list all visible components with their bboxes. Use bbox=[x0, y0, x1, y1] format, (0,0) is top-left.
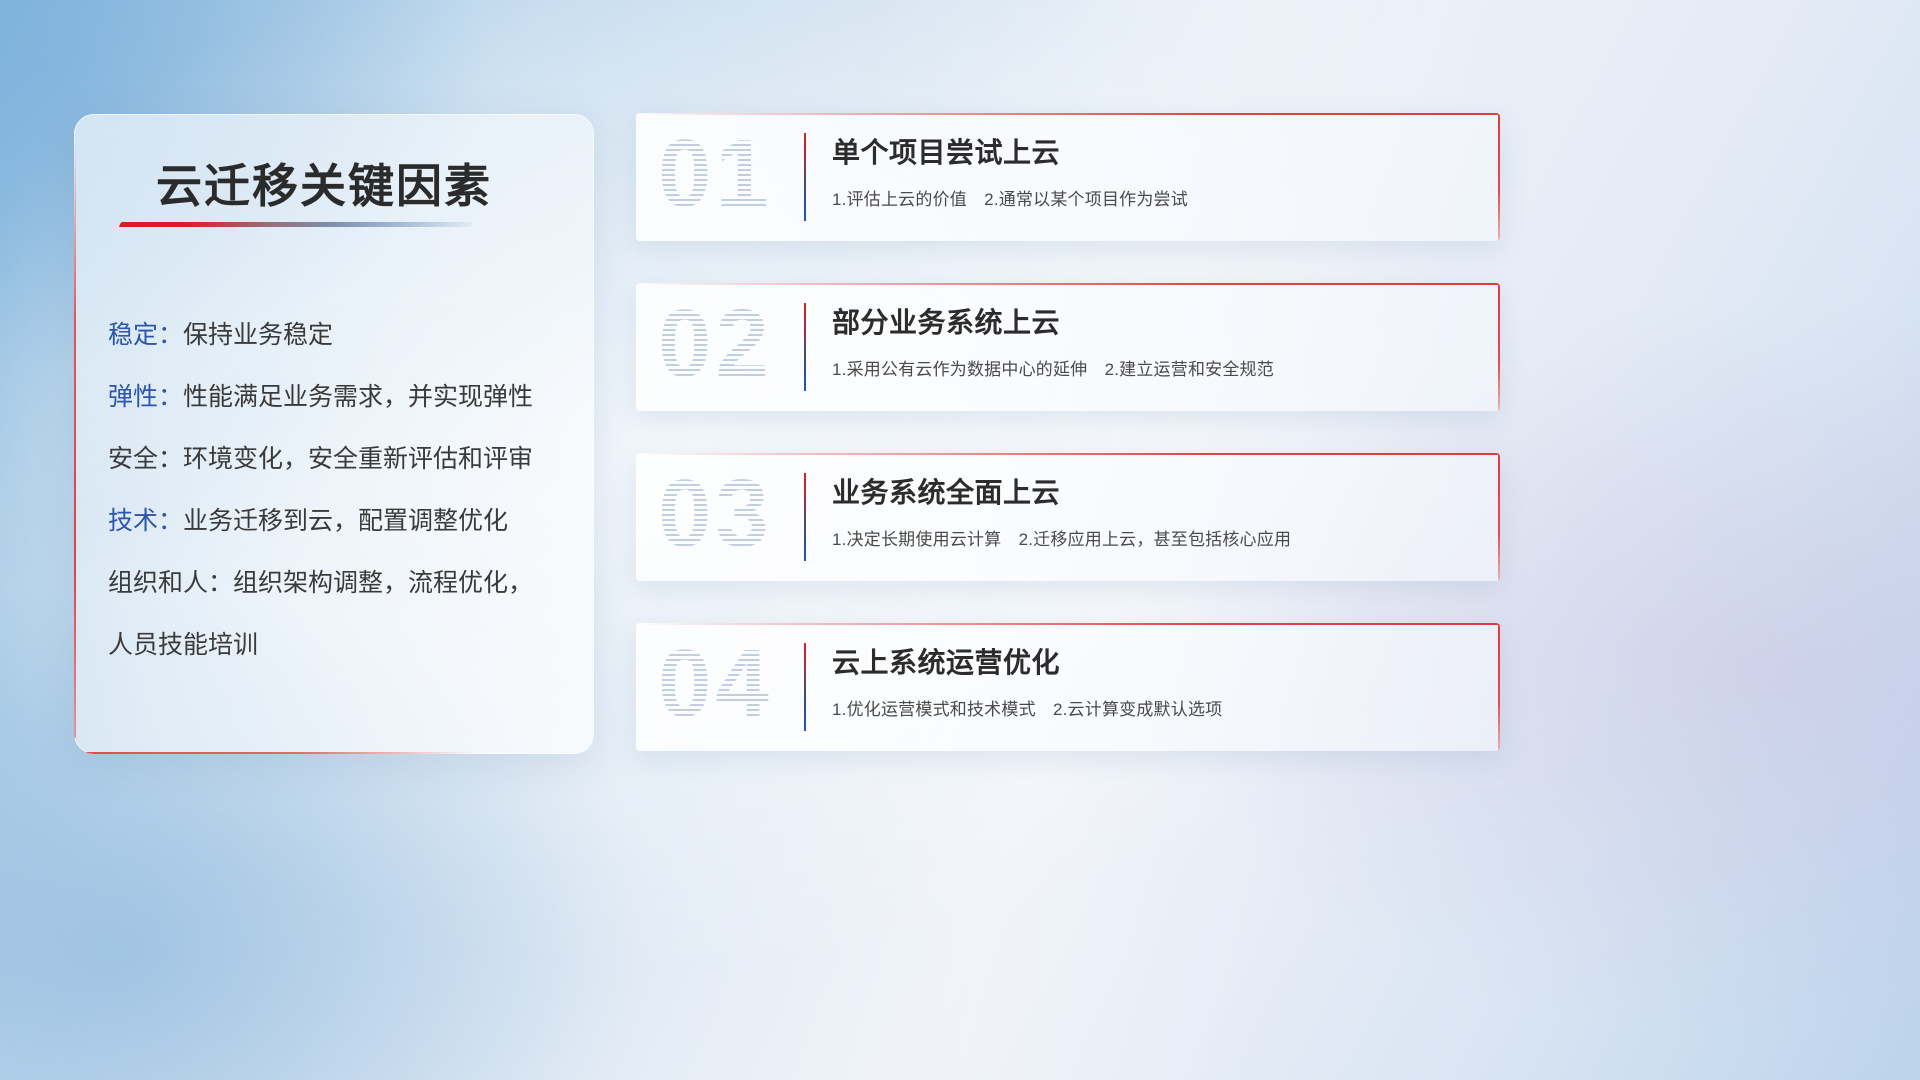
factor-label: 技术： bbox=[108, 507, 183, 535]
factor-item: 技术：业务迁移到云，配置调整优化 bbox=[108, 490, 576, 552]
step-divider-bar bbox=[804, 473, 806, 561]
step-body: 云上系统运营优化 1.优化运营模式和技术模式 2.云计算变成默认选项 bbox=[832, 641, 1476, 720]
step-card[interactable]: 01 单个项目尝试上云 1.评估上云的价值 2.通常以某个项目作为尝试 bbox=[636, 113, 1500, 241]
step-title: 部分业务系统上云 bbox=[832, 301, 1476, 341]
step-card[interactable]: 04 云上系统运营优化 1.优化运营模式和技术模式 2.云计算变成默认选项 bbox=[636, 623, 1500, 751]
step-title: 云上系统运营优化 bbox=[832, 641, 1476, 681]
step-divider-bar bbox=[804, 643, 806, 731]
factor-item: 稳定：保持业务稳定 bbox=[108, 304, 576, 366]
factor-text: 组织架构调整，流程优化， bbox=[233, 569, 533, 597]
panel-title: 云迁移关键因素 bbox=[156, 150, 492, 216]
factor-label: 安全： bbox=[108, 445, 183, 473]
step-number: 04 bbox=[658, 629, 773, 739]
factor-text: 保持业务稳定 bbox=[183, 321, 333, 349]
step-number: 01 bbox=[658, 119, 773, 229]
factor-item-continuation: 人员技能培训 bbox=[108, 614, 576, 676]
step-card[interactable]: 03 业务系统全面上云 1.决定长期使用云计算 2.迁移应用上云，甚至包括核心应… bbox=[636, 453, 1500, 581]
key-factors-panel: 云迁移关键因素 稳定：保持业务稳定 弹性：性能满足业务需求，并实现弹性 安全：环… bbox=[74, 114, 594, 754]
step-number: 03 bbox=[658, 459, 773, 569]
factor-label: 稳定： bbox=[108, 321, 183, 349]
factor-item: 组织和人：组织架构调整，流程优化， bbox=[108, 552, 576, 614]
step-body: 部分业务系统上云 1.采用公有云作为数据中心的延伸 2.建立运营和安全规范 bbox=[832, 301, 1476, 380]
factor-label: 弹性： bbox=[108, 383, 183, 411]
step-title: 单个项目尝试上云 bbox=[832, 131, 1476, 171]
factor-item: 弹性：性能满足业务需求，并实现弹性 bbox=[108, 366, 576, 428]
step-subtitle: 1.决定长期使用云计算 2.迁移应用上云，甚至包括核心应用 bbox=[832, 525, 1476, 550]
step-card[interactable]: 02 部分业务系统上云 1.采用公有云作为数据中心的延伸 2.建立运营和安全规范 bbox=[636, 283, 1500, 411]
factor-label: 组织和人： bbox=[108, 569, 233, 597]
title-underline-rule bbox=[119, 222, 474, 227]
step-body: 单个项目尝试上云 1.评估上云的价值 2.通常以某个项目作为尝试 bbox=[832, 131, 1476, 210]
factor-text: 业务迁移到云，配置调整优化 bbox=[183, 507, 508, 535]
step-body: 业务系统全面上云 1.决定长期使用云计算 2.迁移应用上云，甚至包括核心应用 bbox=[832, 471, 1476, 550]
step-subtitle: 1.评估上云的价值 2.通常以某个项目作为尝试 bbox=[832, 185, 1476, 210]
step-divider-bar bbox=[804, 133, 806, 221]
step-divider-bar bbox=[804, 303, 806, 391]
step-subtitle: 1.采用公有云作为数据中心的延伸 2.建立运营和安全规范 bbox=[832, 355, 1476, 380]
factor-text: 人员技能培训 bbox=[108, 631, 258, 659]
step-subtitle: 1.优化运营模式和技术模式 2.云计算变成默认选项 bbox=[832, 695, 1476, 720]
step-number: 02 bbox=[658, 289, 773, 399]
step-title: 业务系统全面上云 bbox=[832, 471, 1476, 511]
factor-text: 环境变化，安全重新评估和评审 bbox=[183, 445, 533, 473]
factor-item: 安全：环境变化，安全重新评估和评审 bbox=[108, 428, 576, 490]
factor-text: 性能满足业务需求，并实现弹性 bbox=[183, 383, 533, 411]
factor-list: 稳定：保持业务稳定 弹性：性能满足业务需求，并实现弹性 安全：环境变化，安全重新… bbox=[108, 304, 576, 676]
migration-steps-list: 01 单个项目尝试上云 1.评估上云的价值 2.通常以某个项目作为尝试 02 部… bbox=[636, 113, 1500, 793]
